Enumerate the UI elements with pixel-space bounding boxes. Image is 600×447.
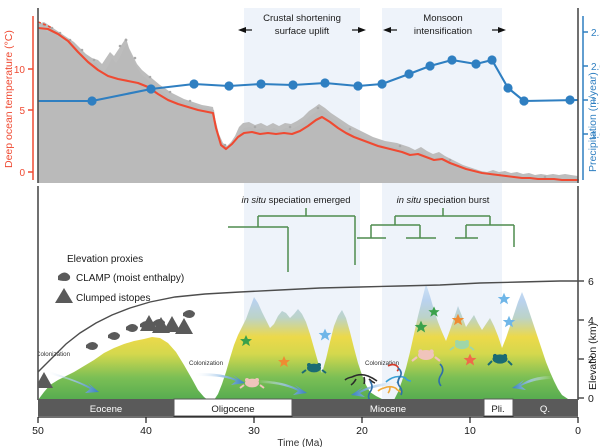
triangle-icon [55, 288, 73, 303]
time-tick-20: 20 [356, 425, 368, 437]
epoch-label-pliocene: Pli. [491, 404, 504, 415]
epoch-label-quaternary: Q. [540, 404, 550, 415]
speciation-emerged-italic: in situ [242, 194, 267, 205]
epoch-label-oligocene: Oligocene [211, 404, 254, 415]
crustal-shortening-line2: surface uplift [275, 26, 330, 37]
colonization-label-3: Colonization [365, 360, 400, 367]
speciation-emerged-rest: speciation emerged [266, 194, 350, 205]
elevation-proxies-legend: Elevation proxies CLAMP (moist enthalpy)… [55, 254, 184, 304]
arrow-right-icon [358, 27, 366, 33]
legend-item-clamp-label: CLAMP (moist enthalpy) [76, 273, 184, 284]
temp-tick-10: 10 [14, 65, 26, 76]
time-axis: 50 40 30 20 10 0 Time (Ma) [32, 417, 581, 447]
temperature-axis: 10 5 0 Deep ocean temperature (°C) [3, 16, 33, 180]
monsoon-line1: Monsoon [423, 13, 462, 24]
time-tick-50: 50 [32, 425, 44, 437]
legend-title: Elevation proxies [67, 254, 143, 265]
epoch-label-eocene: Eocene [90, 404, 123, 415]
speciation-burst-label: in situ speciation burst [397, 194, 490, 205]
elev-tick-0: 0 [588, 393, 594, 405]
epoch-label-miocene: Miocene [370, 404, 406, 415]
elevation-axis-title: Elevation (km) [587, 323, 599, 390]
speciation-burst-italic: in situ [397, 194, 422, 205]
temp-tick-0: 0 [19, 168, 25, 179]
precipitation-axis-title: Precipitation (m/year) [587, 72, 599, 172]
crustal-shortening-line1: Crustal shortening [263, 13, 341, 24]
arrow-left-icon [238, 27, 246, 33]
clamp-bowtie-icon [58, 273, 70, 282]
precip-tick-20: 2.0 [591, 62, 600, 73]
colonization-label-2: Colonization [189, 360, 224, 367]
figure-root: 10 5 0 Deep ocean temperature (°C) 2.5 2… [0, 0, 600, 447]
temperature-axis-title: Deep ocean temperature (°C) [3, 30, 15, 168]
figure-svg: 10 5 0 Deep ocean temperature (°C) 2.5 2… [0, 0, 600, 447]
speciation-emerged-label: in situ speciation emerged [242, 194, 351, 205]
colonization-label-1: Colonization [36, 351, 71, 358]
elev-tick-6: 6 [588, 276, 594, 288]
time-tick-0: 0 [575, 425, 581, 437]
time-tick-10: 10 [464, 425, 476, 437]
time-tick-30: 30 [248, 425, 260, 437]
temp-tick-5: 5 [19, 106, 25, 117]
time-tick-40: 40 [140, 425, 152, 437]
precip-tick-25: 2.5 [591, 28, 600, 39]
time-axis-title: Time (Ma) [277, 438, 322, 447]
epoch-bar: Eocene Oligocene Miocene Pli. Q. [38, 399, 578, 416]
speciation-burst-rest: speciation burst [421, 194, 490, 205]
monsoon-line2: intensification [414, 26, 472, 37]
legend-item-isotopes-label: Clumped istopes [76, 293, 150, 304]
